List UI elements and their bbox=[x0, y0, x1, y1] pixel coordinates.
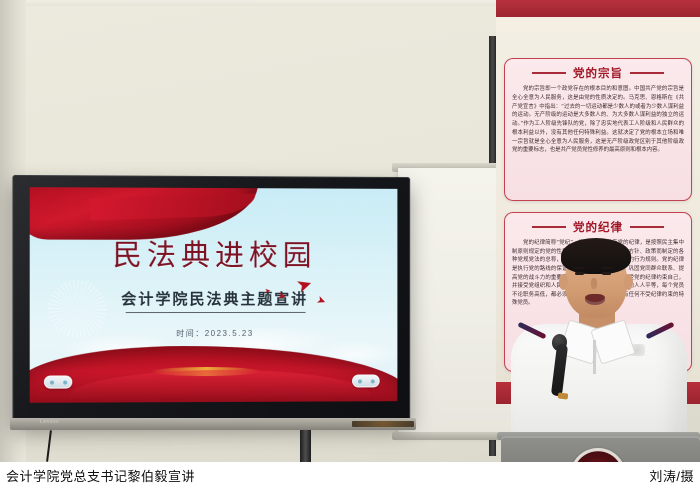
nav-dot-icon bbox=[49, 380, 53, 384]
slide-nav-controls-right[interactable] bbox=[352, 374, 380, 387]
dove-icon: ➤ bbox=[265, 288, 271, 295]
eye-right bbox=[602, 272, 611, 275]
eye-left bbox=[575, 272, 584, 275]
microphone-ring bbox=[558, 392, 569, 399]
header-rule-right bbox=[630, 226, 664, 228]
speaker-foreground: 吉 bbox=[495, 236, 700, 489]
poster-body-text: 党的宗旨即一个政党存在的根本目的和意图。中国共产党的宗旨是全心全意为人民服务，这… bbox=[512, 85, 684, 155]
caption-bar: 会计学院党总支书记黎伯毅宣讲 刘涛/摄 bbox=[0, 462, 700, 489]
eyebrow-right bbox=[601, 267, 612, 269]
header-rule-left bbox=[532, 72, 566, 74]
dove-icon: ➤ bbox=[277, 291, 287, 302]
display-brand-logo: Lenovo bbox=[40, 419, 59, 425]
photo-screenshot: 党的宗旨 党的宗旨即一个政党存在的根本目的和意图。中国共产党的宗旨是全心全意为人… bbox=[0, 0, 700, 489]
presentation-slide: 民法典进校园 会计学院民法典主题宣讲 时间：2023.5.23 ➤ ➤ ➤ ➤ bbox=[30, 187, 398, 403]
nose bbox=[591, 278, 597, 289]
header-rule-right bbox=[630, 72, 664, 74]
poster-card-header: 党的纪律 bbox=[512, 219, 684, 235]
nav-dot-icon bbox=[63, 380, 67, 384]
poster-card-header: 党的宗旨 bbox=[512, 65, 684, 81]
caption-text: 会计学院党总支书记黎伯毅宣讲 bbox=[6, 466, 195, 485]
eyebrow-left bbox=[574, 267, 585, 269]
slide-nav-controls-left[interactable] bbox=[44, 375, 72, 388]
mouth bbox=[585, 294, 605, 305]
nav-dot-icon bbox=[357, 379, 361, 383]
ear-right bbox=[624, 274, 633, 290]
poster-title: 党的纪律 bbox=[573, 219, 623, 235]
ear-left bbox=[559, 274, 568, 290]
slide-subtitle: 会计学院民法典主题宣讲 bbox=[30, 288, 398, 309]
shirt-placket bbox=[593, 340, 596, 374]
poster-title: 党的宗旨 bbox=[573, 65, 623, 81]
header-rule-left bbox=[532, 226, 566, 228]
poster-top-band bbox=[496, 0, 700, 17]
slide-date: 时间：2023.5.23 bbox=[30, 328, 398, 340]
display-screen: 民法典进校园 会计学院民法典主题宣讲 时间：2023.5.23 ➤ ➤ ➤ ➤ bbox=[30, 187, 398, 403]
slide-title: 民法典进校园 bbox=[30, 231, 398, 274]
poster-card-party-purpose: 党的宗旨 党的宗旨即一个政党存在的根本目的和意图。中国共产党的宗旨是全心全意为人… bbox=[504, 58, 692, 201]
interactive-display: 民法典进校园 会计学院民法典主题宣讲 时间：2023.5.23 ➤ ➤ ➤ ➤ bbox=[12, 175, 410, 423]
display-indicator-strip bbox=[352, 421, 414, 427]
speaker-hair bbox=[561, 238, 631, 274]
nav-dot-icon bbox=[370, 379, 374, 383]
photo-credit: 刘涛/摄 bbox=[649, 466, 694, 485]
slide-subtitle-underline bbox=[126, 312, 306, 313]
